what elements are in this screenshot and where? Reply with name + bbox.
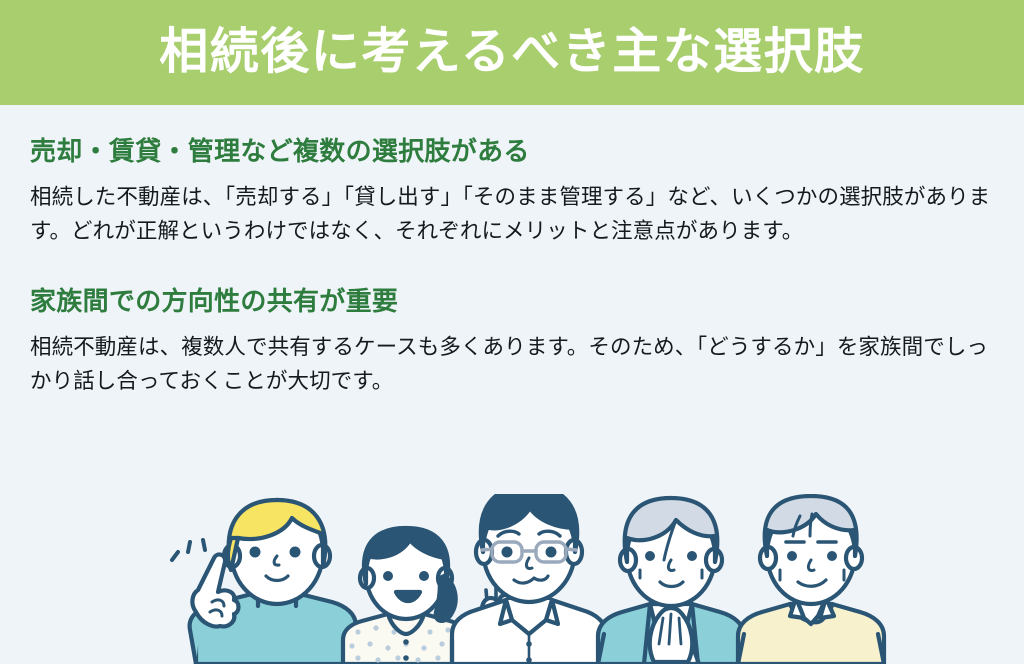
page-title: 相続後に考えるべき主な選択肢: [159, 28, 865, 77]
family-group-illustration: [0, 494, 1024, 664]
figure-man-with-glasses: [452, 494, 606, 664]
section-body-family-alignment: 相続不動産は、複数人で共有するケースも多くあります。そのため、「どうするか」を家…: [30, 330, 994, 400]
figure-elderly-woman: [598, 498, 744, 664]
family-illustration-svg: [0, 494, 1024, 664]
figure-elderly-man: [738, 496, 884, 664]
figure-young-woman-pointing: [172, 500, 356, 664]
section-family-alignment: 家族間での方向性の共有が重要 相続不動産は、複数人で共有するケースも多くあります…: [30, 285, 994, 399]
section-heading-options: 売却・賃貸・管理など複数の選択肢がある: [30, 135, 994, 168]
main-content: 売却・賃貸・管理など複数の選択肢がある 相続した不動産は、「売却する」「貸し出す…: [0, 105, 1024, 399]
page-header-band: 相続後に考えるべき主な選択肢: [0, 0, 1024, 105]
section-heading-family-alignment: 家族間での方向性の共有が重要: [30, 285, 994, 318]
figure-girl-waving: [343, 528, 520, 664]
section-options: 売却・賃貸・管理など複数の選択肢がある 相続した不動産は、「売却する」「貸し出す…: [30, 135, 994, 249]
section-body-options: 相続した不動産は、「売却する」「貸し出す」「そのまま管理する」など、いくつかの選…: [30, 180, 994, 250]
